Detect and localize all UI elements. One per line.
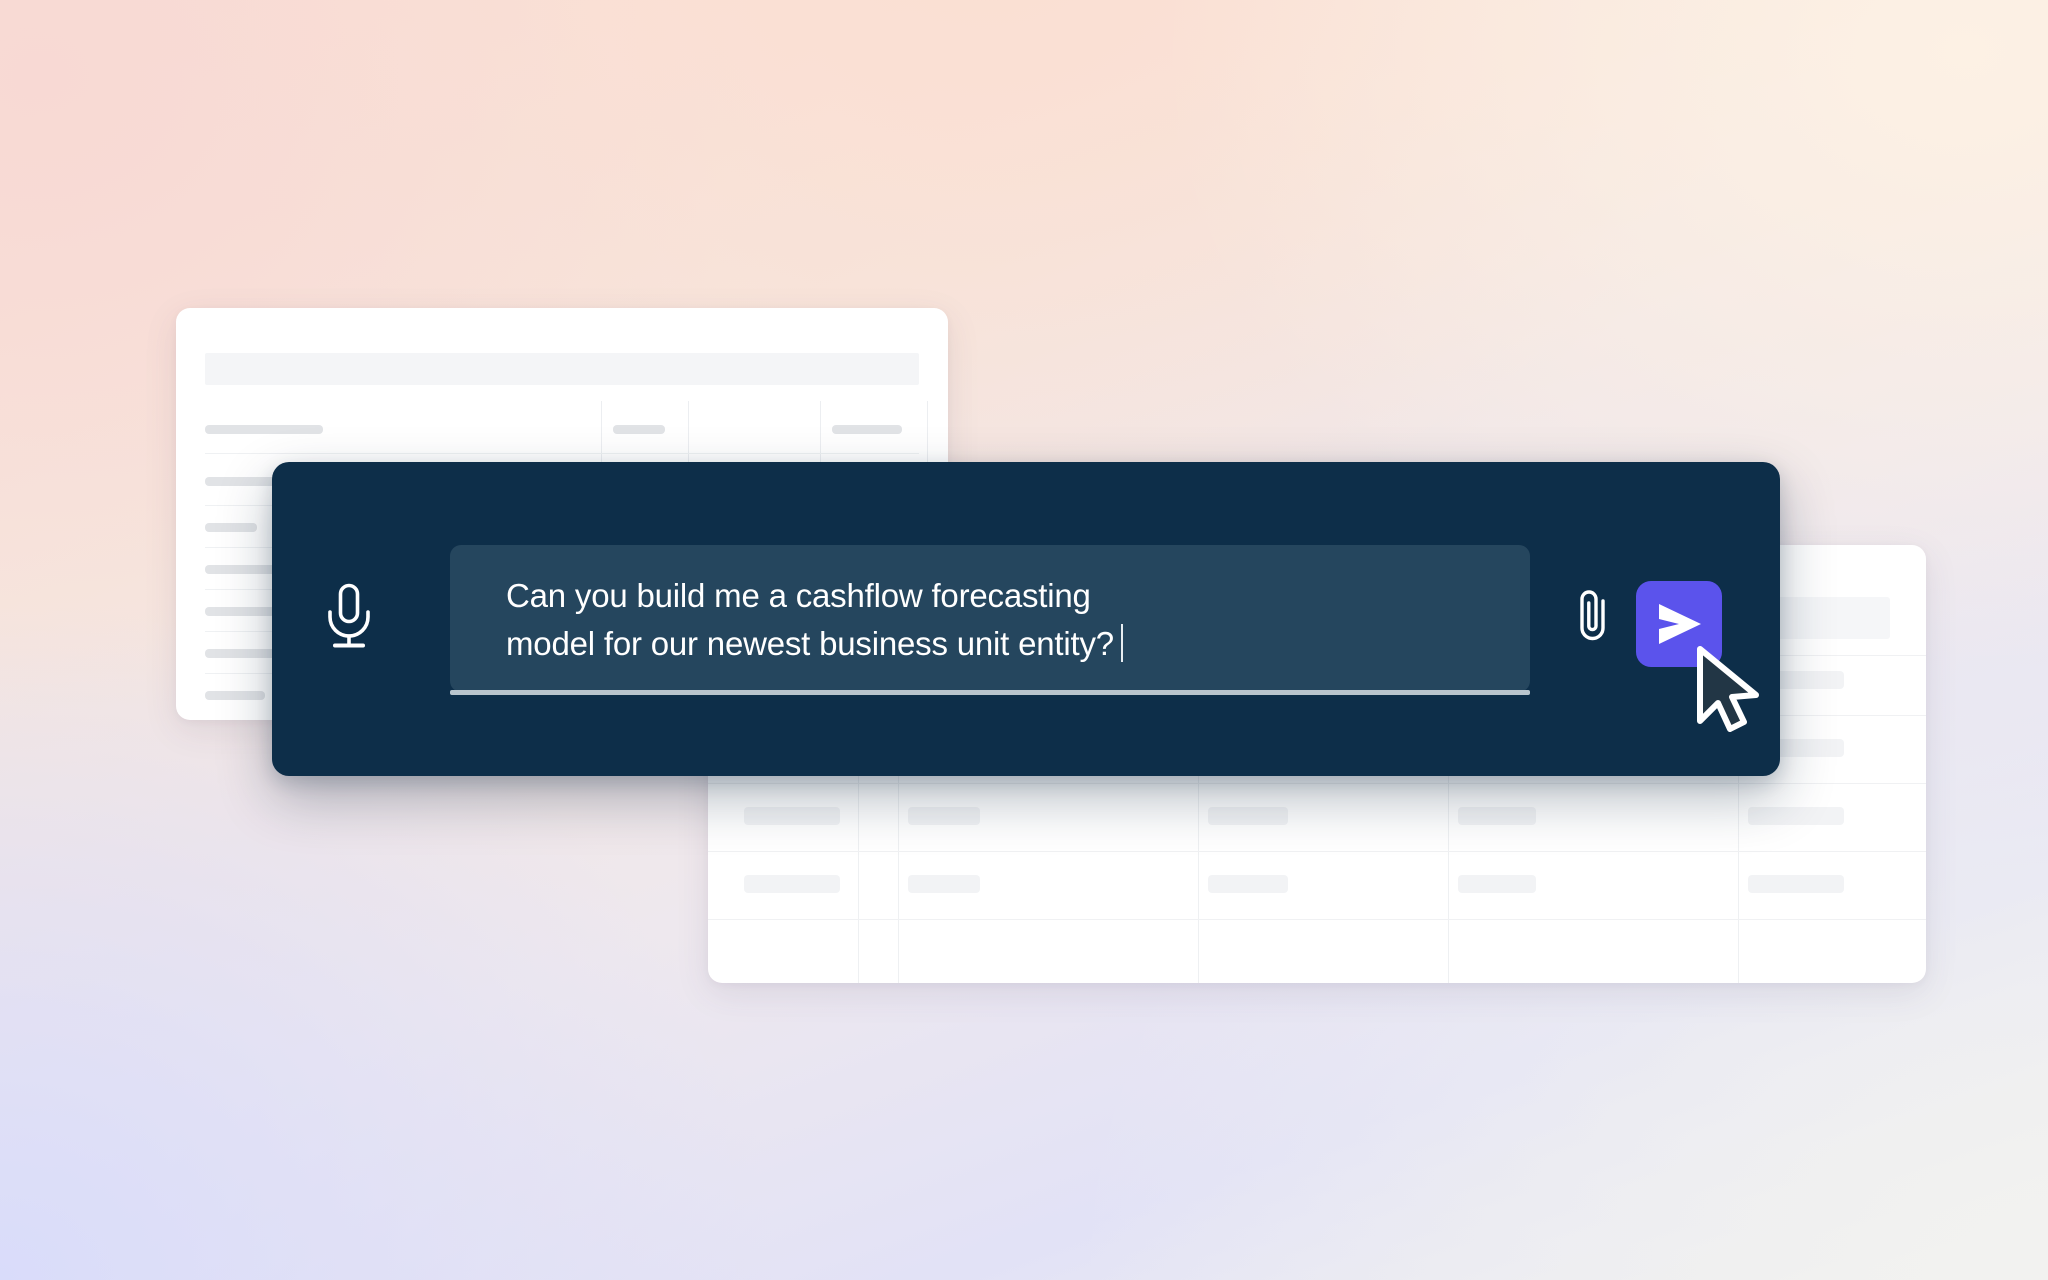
cell-placeholder xyxy=(908,807,980,825)
cell-placeholder xyxy=(205,425,323,434)
message-input-value: Can you build me a cashflow forecasting … xyxy=(506,572,1516,668)
cell-placeholder xyxy=(205,607,275,616)
cell-placeholder xyxy=(205,523,257,532)
cell-placeholder xyxy=(1208,875,1288,893)
message-input[interactable]: Can you build me a cashflow forecasting … xyxy=(450,545,1530,692)
cell-placeholder xyxy=(205,691,265,700)
microphone-icon xyxy=(321,581,377,653)
row-divider xyxy=(708,851,1926,852)
table-header-band xyxy=(205,353,919,385)
screenshot-stage: Can you build me a cashflow forecasting … xyxy=(0,0,2048,1280)
send-button[interactable] xyxy=(1636,581,1722,667)
cell-placeholder xyxy=(613,425,665,434)
cell-placeholder xyxy=(908,875,980,893)
cell-placeholder xyxy=(1208,807,1288,825)
chat-command-bar: Can you build me a cashflow forecasting … xyxy=(272,462,1780,776)
cell-placeholder xyxy=(1458,875,1536,893)
paperclip-icon xyxy=(1574,586,1614,644)
row-divider xyxy=(708,919,1926,920)
attach-file-button[interactable] xyxy=(1565,580,1623,650)
row-divider xyxy=(205,453,919,454)
cell-placeholder xyxy=(1748,807,1844,825)
row-divider xyxy=(708,783,1926,784)
text-caret xyxy=(1121,624,1123,662)
cell-placeholder xyxy=(744,875,840,893)
cell-placeholder xyxy=(1748,875,1844,893)
microphone-button[interactable] xyxy=(294,562,404,672)
input-underline xyxy=(450,690,1530,695)
cell-placeholder xyxy=(744,807,840,825)
cell-placeholder xyxy=(1458,807,1536,825)
send-icon xyxy=(1653,600,1705,648)
cell-placeholder xyxy=(832,425,902,434)
